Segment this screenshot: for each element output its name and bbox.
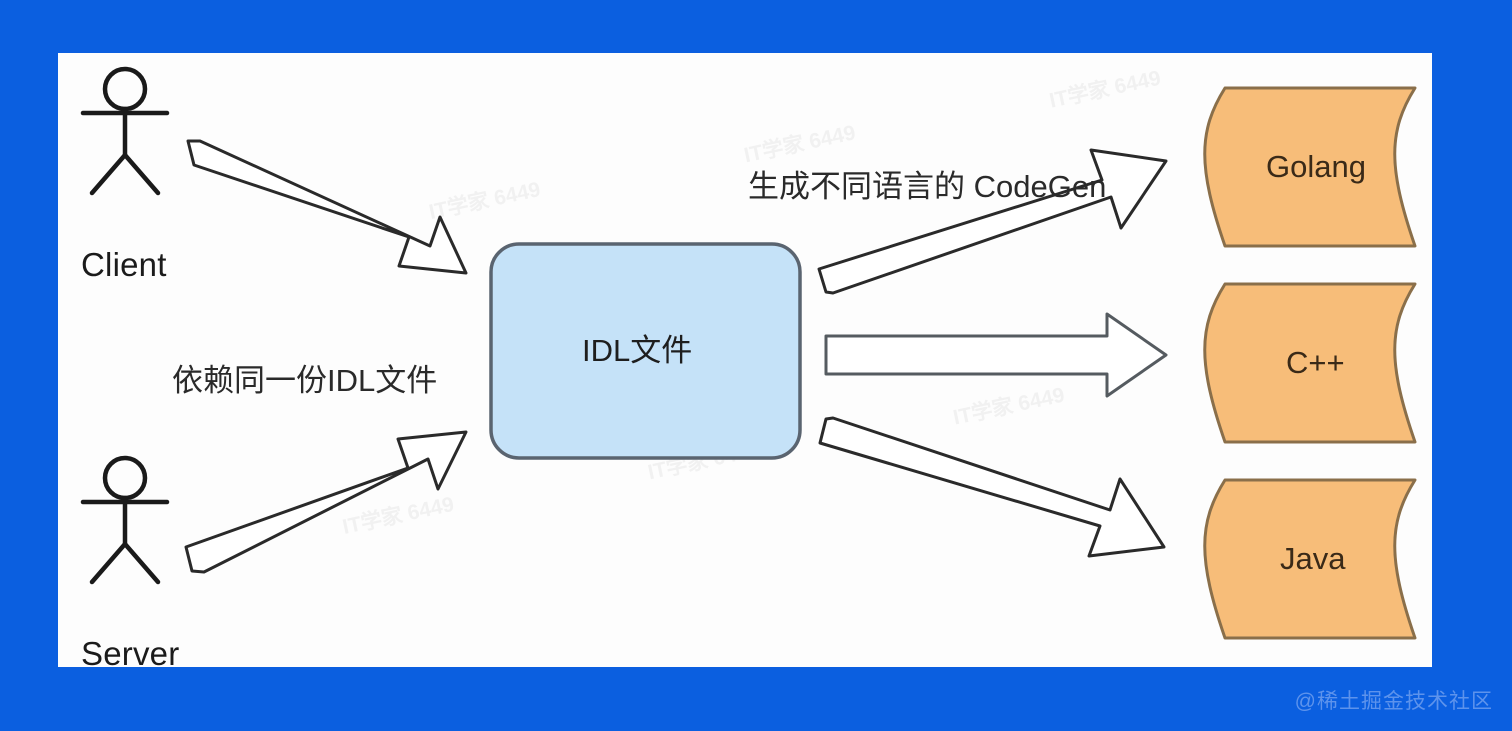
actor-server-icon <box>83 458 167 582</box>
edge-label-right: 生成不同语言的 CodeGen <box>748 171 1106 202</box>
diagram-graphics <box>58 53 1432 667</box>
output-label-cpp: C++ <box>1286 347 1345 378</box>
arrow-idl-to-java <box>820 418 1164 556</box>
idl-file-label: IDL文件 <box>582 335 692 366</box>
output-label-golang: Golang <box>1266 151 1366 182</box>
actor-client-icon <box>83 69 167 193</box>
client-right-leg-icon <box>125 155 158 193</box>
server-head-icon <box>105 458 145 498</box>
diagram-panel: IT学家 6449 IT学家 6449 IT学家 6449 IT学家 6449 … <box>58 53 1432 667</box>
output-label-java: Java <box>1280 543 1345 574</box>
server-right-leg-icon <box>125 544 158 582</box>
arrow-client-to-idl <box>188 141 466 273</box>
client-left-leg-icon <box>92 155 125 193</box>
screenshot-canvas: IT学家 6449 IT学家 6449 IT学家 6449 IT学家 6449 … <box>0 0 1512 731</box>
client-head-icon <box>105 69 145 109</box>
actor-label-server: Server <box>81 637 179 667</box>
arrow-server-to-idl <box>186 432 466 572</box>
server-left-leg-icon <box>92 544 125 582</box>
actor-label-client: Client <box>81 248 167 281</box>
arrow-idl-to-cpp <box>826 314 1166 396</box>
edge-label-left: 依赖同一份IDL文件 <box>172 365 437 396</box>
site-watermark: @稀土掘金技术社区 <box>1295 685 1493 715</box>
